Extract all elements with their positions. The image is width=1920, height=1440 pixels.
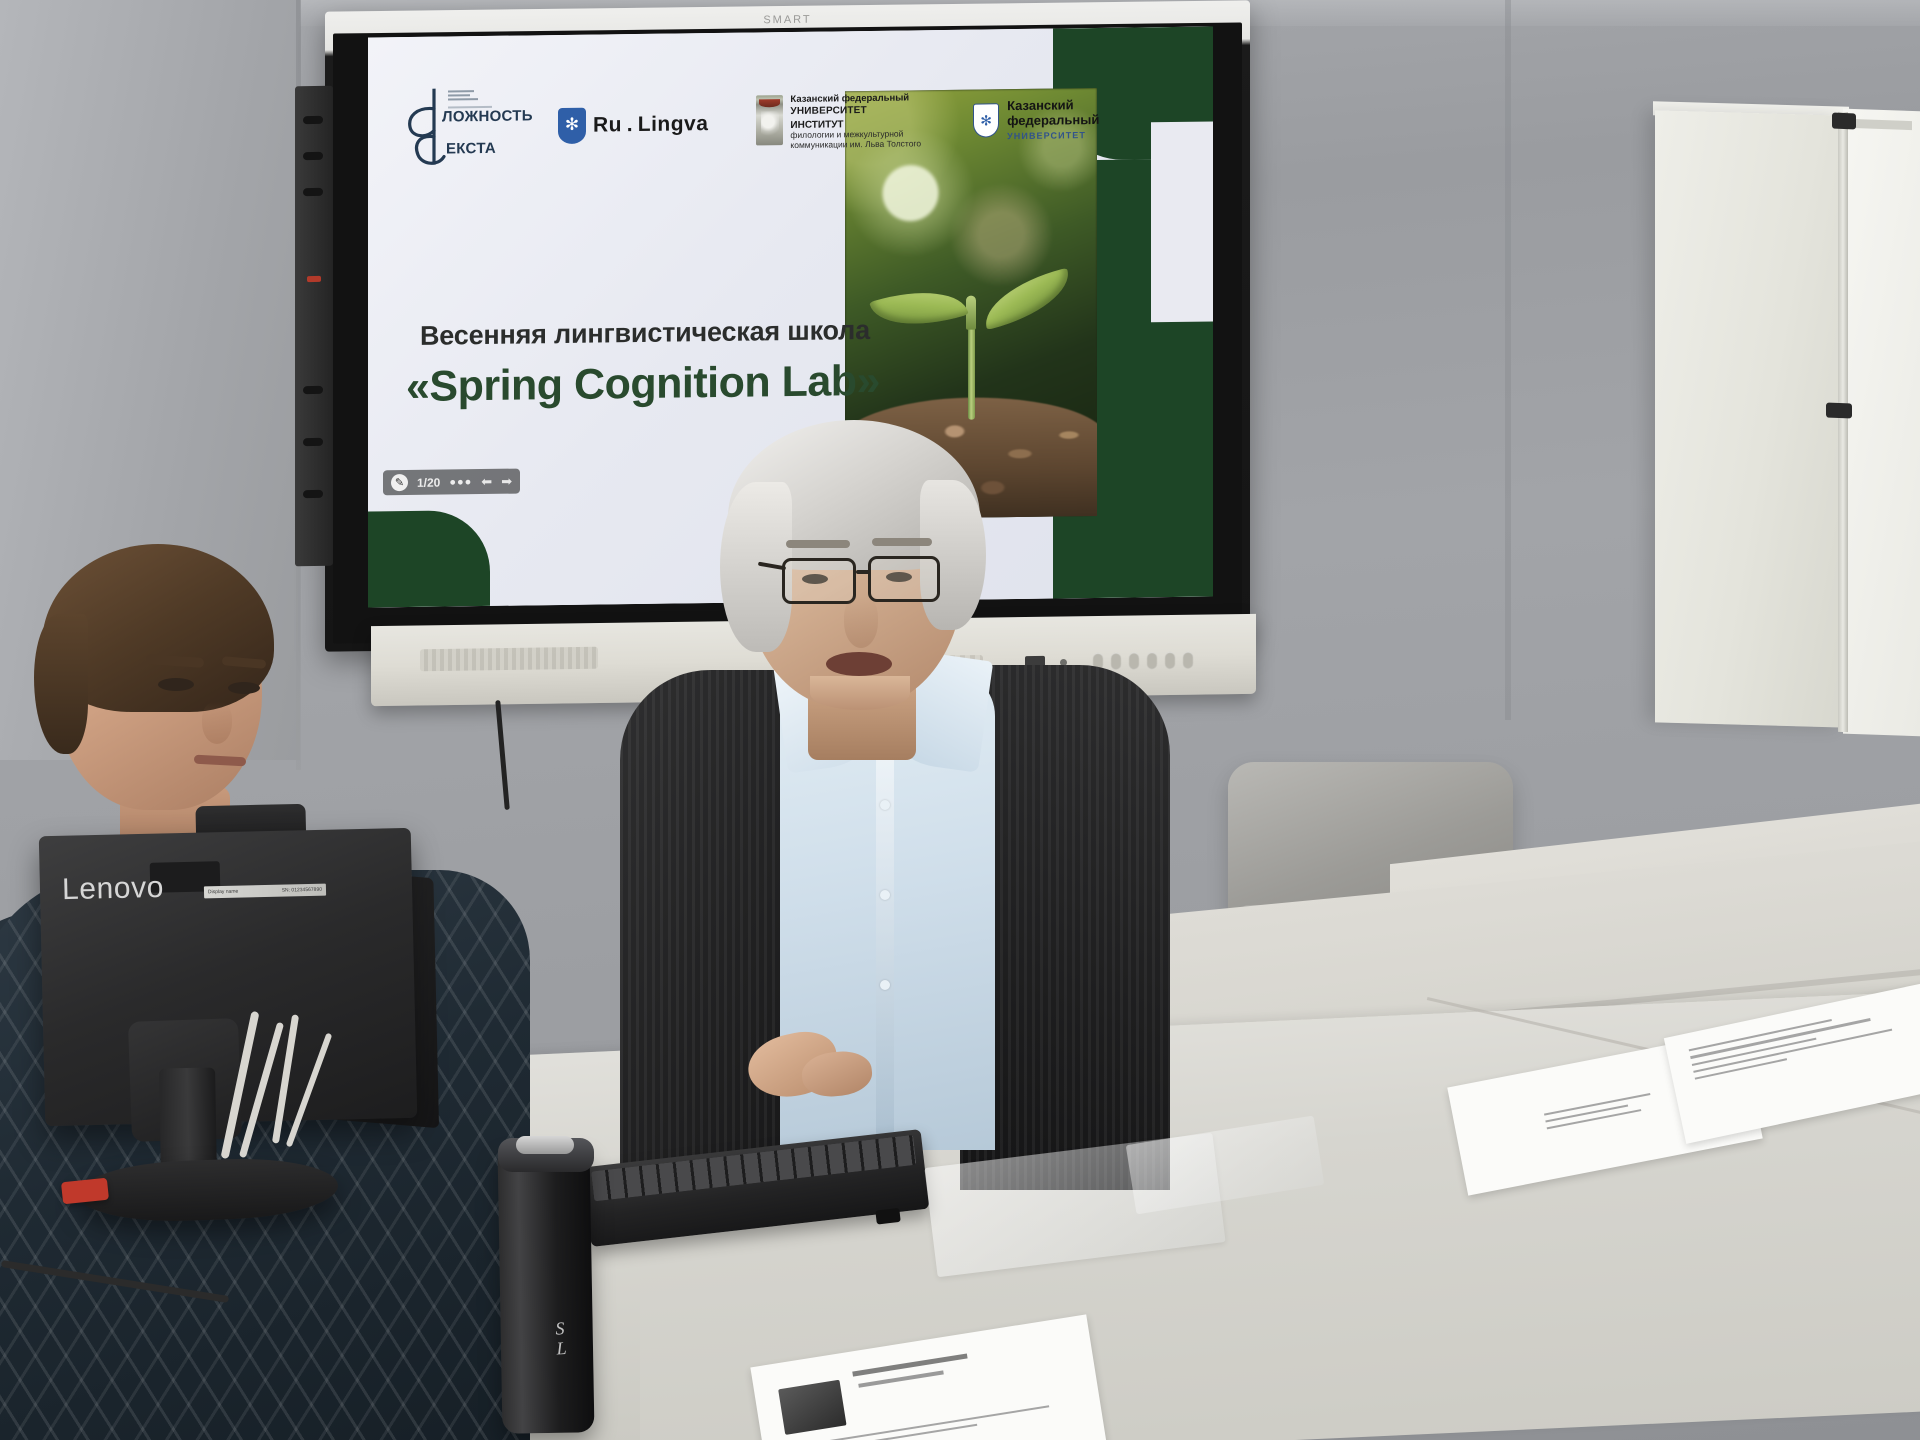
pen-icon[interactable]: ✎ xyxy=(391,474,408,491)
monitor-sticker-left: Display name xyxy=(208,889,238,896)
display-side-mount xyxy=(295,86,333,567)
whiteboard-clip-bottom xyxy=(1826,403,1852,419)
whiteboard-frame xyxy=(1838,112,1848,732)
logo-kfu-institute: Казанский федеральный УНИВЕРСИТЕТ ИНСТИТ… xyxy=(756,94,921,151)
slozhnost-mark-icon xyxy=(404,86,454,171)
kfu-line2: федеральный xyxy=(1007,113,1099,129)
monitor-sticker-right: SN: 01234567890 xyxy=(282,887,322,894)
monitor-brand-label: Lenovo xyxy=(62,871,165,907)
monitor-cables xyxy=(236,1010,366,1190)
person-presenter xyxy=(630,440,1190,1200)
travel-mug-lid-top xyxy=(516,1136,574,1154)
slide-logo-row: ЛОЖНОСТЬ ЕКСТА ✻ Ru . Lingva Казанский ф… xyxy=(404,75,1033,173)
travel-mug xyxy=(498,1147,595,1434)
logo-rulingva: ✻ Ru . Lingva xyxy=(558,106,708,144)
presenter-glasses-left xyxy=(782,558,856,604)
logo-kfu: ✻ Казанский федеральный УНИВЕРСИТЕТ xyxy=(973,98,1099,142)
slide-counter: 1/20 xyxy=(417,475,440,489)
slide-subtitle: Весенняя лингвистическая школа xyxy=(420,314,920,352)
ifmk-line2: УНИВЕРСИТЕТ xyxy=(790,104,921,117)
presentation-toolbar[interactable]: ✎ 1/20 ●●● ⬅ ➡ xyxy=(383,469,520,496)
ifmk-line5: коммуникации им. Льва Толстого xyxy=(790,139,921,150)
slozhnost-word-top: ЛОЖНОСТЬ xyxy=(442,107,533,125)
kfu-shield-icon: ✻ xyxy=(973,103,999,137)
wall-seam-right xyxy=(1505,0,1511,720)
next-slide-icon[interactable]: ➡ xyxy=(501,475,512,488)
room-scene: SMART xyxy=(0,0,1920,1440)
logo-slozhnost-teksta: ЛОЖНОСТЬ ЕКСТА xyxy=(404,84,500,171)
whiteboard-clip-top xyxy=(1832,113,1856,130)
rulingva-label: Ru . Lingva xyxy=(593,112,708,138)
travel-mug-script: S L xyxy=(555,1316,617,1359)
kazan-crest-icon xyxy=(756,96,783,146)
slide-title: «Spring Cognition Lab» xyxy=(406,356,926,412)
presenter-glasses-right xyxy=(868,556,940,602)
whiteboard xyxy=(1843,109,1920,737)
rulingva-shield-icon: ✻ xyxy=(558,108,586,144)
kfu-line3: УНИВЕРСИТЕТ xyxy=(1007,130,1099,141)
storage-cabinet xyxy=(1655,110,1845,727)
more-options-icon[interactable]: ●●● xyxy=(449,476,472,488)
slozhnost-word-bottom: ЕКСТА xyxy=(446,140,496,158)
white-notch-shape xyxy=(1151,121,1213,322)
previous-slide-icon[interactable]: ⬅ xyxy=(481,475,492,488)
